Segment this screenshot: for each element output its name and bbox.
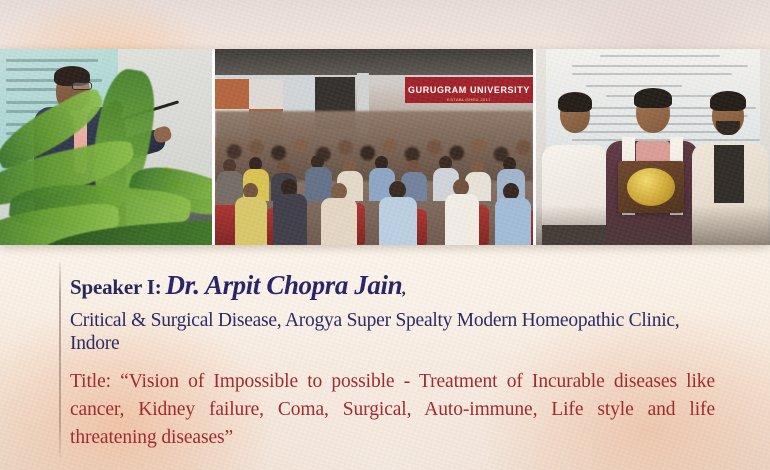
photo-strip: GURUGRAM UNIVERSITY ESTABLISHED 2017 (0, 49, 770, 245)
banner-subtitle: ESTABLISHED 2017 (405, 97, 533, 102)
speaker-name: Dr. Arpit Chopra Jain (166, 270, 407, 300)
photo-speaker-podium (0, 49, 212, 245)
presentation-slide: GURUGRAM UNIVERSITY ESTABLISHED 2017 (0, 0, 770, 470)
banner-title: GURUGRAM UNIVERSITY (408, 85, 530, 95)
speaker-label: Speaker I: (70, 275, 162, 299)
award-medallion (627, 168, 675, 206)
photo-award-presentation (536, 49, 770, 245)
talk-title-value: “Vision of Impossible to possible - Trea… (70, 371, 715, 447)
talk-title: Title: “Vision of Impossible to possible… (70, 368, 715, 451)
audience-rows (215, 153, 533, 245)
speaker-info-block: Speaker I:Dr. Arpit Chopra Jain Critical… (70, 270, 730, 452)
speaker-heading: Speaker I:Dr. Arpit Chopra Jain (70, 270, 730, 300)
photo-audience-auditorium: GURUGRAM UNIVERSITY ESTABLISHED 2017 (215, 49, 533, 245)
speaker-affiliation: Critical & Surgical Disease, Arogya Supe… (70, 310, 695, 355)
left-accent-rule (59, 262, 61, 458)
university-banner: GURUGRAM UNIVERSITY ESTABLISHED 2017 (405, 77, 533, 103)
talk-title-label: Title: (70, 371, 111, 392)
